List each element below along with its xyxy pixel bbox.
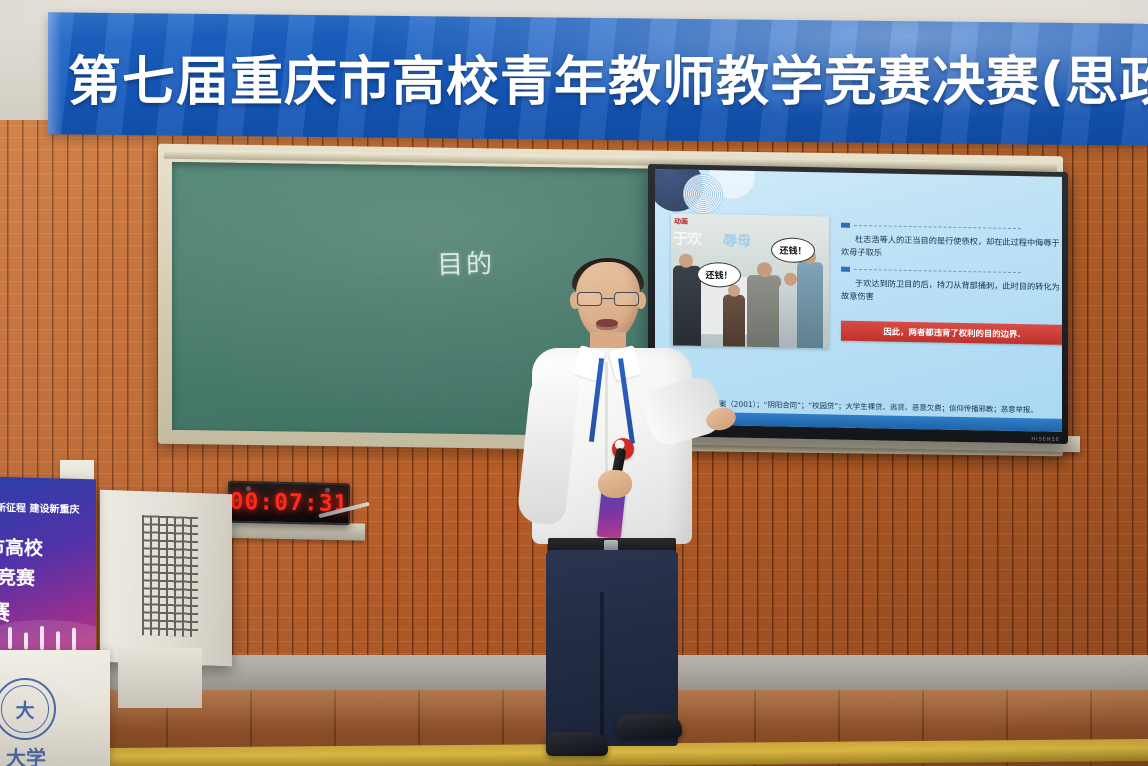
bullet-divider xyxy=(854,269,1021,273)
photo-watermark-sub: 辱母 xyxy=(723,230,751,251)
bullet-divider xyxy=(854,225,1021,229)
presenter-hand-left xyxy=(598,470,632,498)
photo-watermark-tag: 动画 xyxy=(674,216,688,226)
photo-person-4-head xyxy=(784,273,797,286)
photo-watermark-title: 于欢 xyxy=(673,227,701,249)
countdown-timer: 00:07:31 xyxy=(228,481,350,526)
slide-conclusion-banner: 因此，两者都违背了权利的目的边界. xyxy=(841,321,1062,345)
presenter xyxy=(520,262,730,732)
silhouette-figure xyxy=(56,631,60,650)
event-banner-title: 第七届重庆市高校青年教师教学竞赛决赛(思政组) xyxy=(68,40,1146,116)
speaker-base-panel xyxy=(118,648,202,708)
trouser-leg-divider xyxy=(600,592,604,742)
timer-mount-screw-right xyxy=(325,488,330,493)
presenter-mouth xyxy=(596,319,618,330)
podium-banner-line-1: 新征程 建设新重庆 xyxy=(0,499,79,516)
photo-person-3 xyxy=(747,275,781,348)
photo-person-3-head xyxy=(757,262,772,277)
glasses-lens-right xyxy=(614,292,639,306)
timer-mount-screw-left xyxy=(246,486,251,491)
slide-bullet-1-text: 杜志浩等人的正当目的是行使债权，却在此过程中侮辱于欢母子取乐 xyxy=(841,233,1062,263)
university-seal-text: 大学 xyxy=(6,742,46,766)
chalkboard-note: 目的 xyxy=(436,243,495,281)
silhouette-figure xyxy=(24,632,28,649)
photo-person-5 xyxy=(797,262,823,348)
university-seal-glyph: 大 xyxy=(1,685,49,733)
glasses-bridge xyxy=(602,298,614,299)
bullet-marker-icon xyxy=(841,267,850,272)
silhouette-figure xyxy=(72,628,76,651)
glasses-lens-left xyxy=(577,292,602,306)
podium-banner: 新征程 建设新重庆 市高校 学竞赛 赛 xyxy=(0,477,96,662)
silhouette-figure xyxy=(40,626,44,650)
podium-banner-line-3: 学竞赛 xyxy=(0,562,35,590)
classroom-scene: 第七届重庆市高校青年教师教学竞赛决赛(思政组) 目的 xyxy=(0,0,1148,766)
slide-bullet-2-text: 于欢达到防卫目的后，持刀从背部捅刺，此时目的转化为故意伤害 xyxy=(841,277,1062,307)
wall-speaker xyxy=(100,490,232,667)
glasses-icon xyxy=(576,292,640,307)
banner-left-highlight xyxy=(48,12,62,134)
speech-bubble-2: 还钱！ xyxy=(771,237,815,263)
presenter-shoe-right xyxy=(616,714,682,738)
podium-banner-line-2: 市高校 xyxy=(0,532,43,560)
slide-decor-circle-dotted xyxy=(683,174,723,215)
silhouette-figure xyxy=(8,627,12,649)
event-banner: 第七届重庆市高校青年教师教学竞赛决赛(思政组) xyxy=(48,12,1148,146)
bullet-marker-icon xyxy=(841,223,850,228)
tv-brand-logo: HISENSE xyxy=(1031,436,1060,443)
speaker-grille xyxy=(142,515,198,637)
presenter-shoe-left xyxy=(546,732,608,756)
